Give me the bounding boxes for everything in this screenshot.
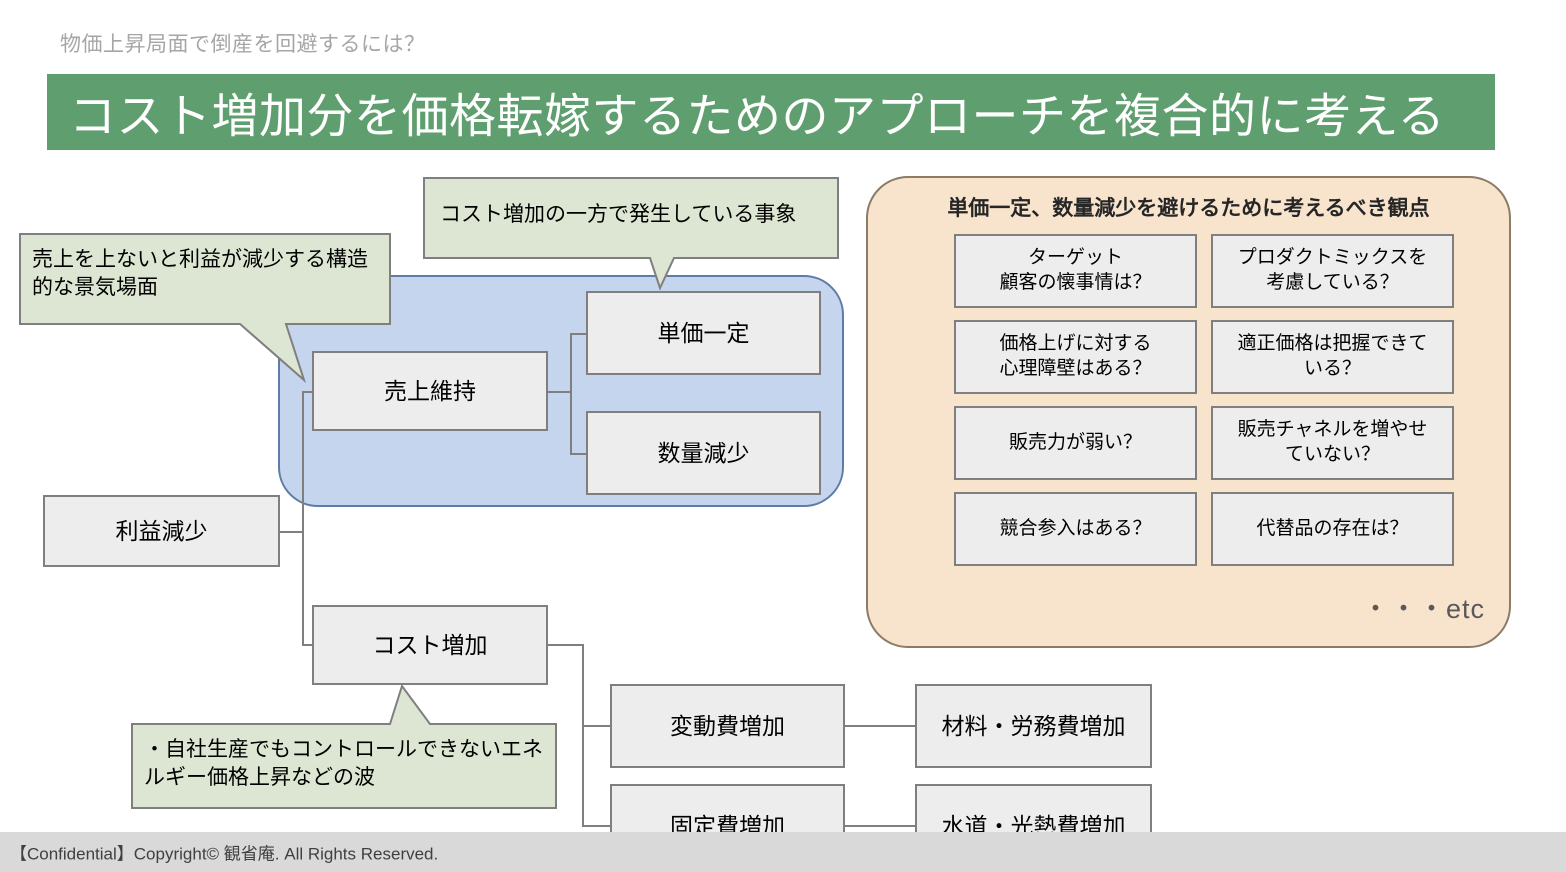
callout-energy-price: ・自社生産でもコントロールできないエネルギー価格上昇などの波 <box>130 684 558 810</box>
node-material-labor-cost[interactable]: 材料・労務費増加 <box>915 684 1152 768</box>
consideration-item[interactable]: ターゲット 顧客の懐事情は？ <box>954 234 1197 308</box>
consideration-item[interactable]: 価格上げに対する 心理障壁はある？ <box>954 320 1197 394</box>
connector-to-variable-cost <box>582 725 610 727</box>
node-label: 材料・労務費増加 <box>942 711 1126 741</box>
slide-canvas: 物価上昇局面で倒産を回避するには？ コスト増加分を価格転嫁するためのアプローチを… <box>0 0 1566 872</box>
node-volume-decrease[interactable]: 数量減少 <box>586 411 821 495</box>
callout-profit-decline: 売上を上ないと利益が減少する構造的な景気場面 <box>18 232 398 382</box>
node-profit-decline[interactable]: 利益減少 <box>43 495 280 567</box>
panel-title: 単価一定、数量減少を避けるために考えるべき観点 <box>868 192 1509 222</box>
callout-text: ・自社生産でもコントロールできないエネルギー価格上昇などの波 <box>144 736 544 792</box>
slide-subtitle: 物価上昇局面で倒産を回避するには？ <box>60 28 426 58</box>
connector-cost-spine <box>582 644 584 826</box>
callout-cost-phenomenon: コスト増加の一方で発生している事象 <box>422 176 840 292</box>
page-title: コスト増加分を価格転嫁するためのアプローチを複合的に考える <box>69 78 1445 147</box>
node-label: 数量減少 <box>658 438 750 468</box>
consideration-item[interactable]: 販売力が弱い？ <box>954 406 1197 480</box>
consideration-item[interactable]: 適正価格は把握できて いる？ <box>1211 320 1454 394</box>
connector-root-stub <box>280 531 304 533</box>
connector-cost-stub <box>548 644 584 646</box>
etc-label: ・・・etc <box>1362 587 1485 626</box>
node-unit-price-fixed[interactable]: 単価一定 <box>586 291 821 375</box>
connector-sales-spine <box>570 333 572 453</box>
consideration-item[interactable]: プロダクトミックスを 考慮している？ <box>1211 234 1454 308</box>
connector-variable-to-material <box>845 725 915 727</box>
callout-text: コスト増加の一方で発生している事象 <box>440 201 826 229</box>
copyright-notice: 【Confidential】Copyright© 観省庵. All Rights… <box>10 840 438 865</box>
callout-shape <box>422 176 840 292</box>
consideration-item[interactable]: 代替品の存在は？ <box>1211 492 1454 566</box>
consideration-item[interactable]: 競合参入はある？ <box>954 492 1197 566</box>
considerations-grid: ターゲット 顧客の懐事情は？ プロダクトミックスを 考慮している？ 価格上げに対… <box>954 234 1454 566</box>
consideration-item[interactable]: 販売チャネルを増やせ ていない？ <box>1211 406 1454 480</box>
connector-sales-stub <box>548 391 572 393</box>
considerations-panel: 単価一定、数量減少を避けるために考えるべき観点 ターゲット 顧客の懐事情は？ プ… <box>866 176 1511 648</box>
node-variable-cost-increase[interactable]: 変動費増加 <box>610 684 845 768</box>
node-label: 変動費増加 <box>670 711 785 741</box>
connector-to-fixed-cost <box>582 825 610 827</box>
footer-bar: 【Confidential】Copyright© 観省庵. All Rights… <box>0 832 1566 872</box>
callout-text: 売上を上ないと利益が減少する構造的な景気場面 <box>32 246 380 302</box>
node-label: コスト増加 <box>373 630 488 660</box>
title-banner: コスト増加分を価格転嫁するためのアプローチを複合的に考える <box>47 74 1495 150</box>
node-label: 単価一定 <box>658 318 750 348</box>
connector-fixed-to-utility <box>845 825 915 827</box>
node-cost-increase[interactable]: コスト増加 <box>312 605 548 685</box>
node-label: 利益減少 <box>116 516 208 546</box>
connector-root-spine <box>302 391 304 645</box>
